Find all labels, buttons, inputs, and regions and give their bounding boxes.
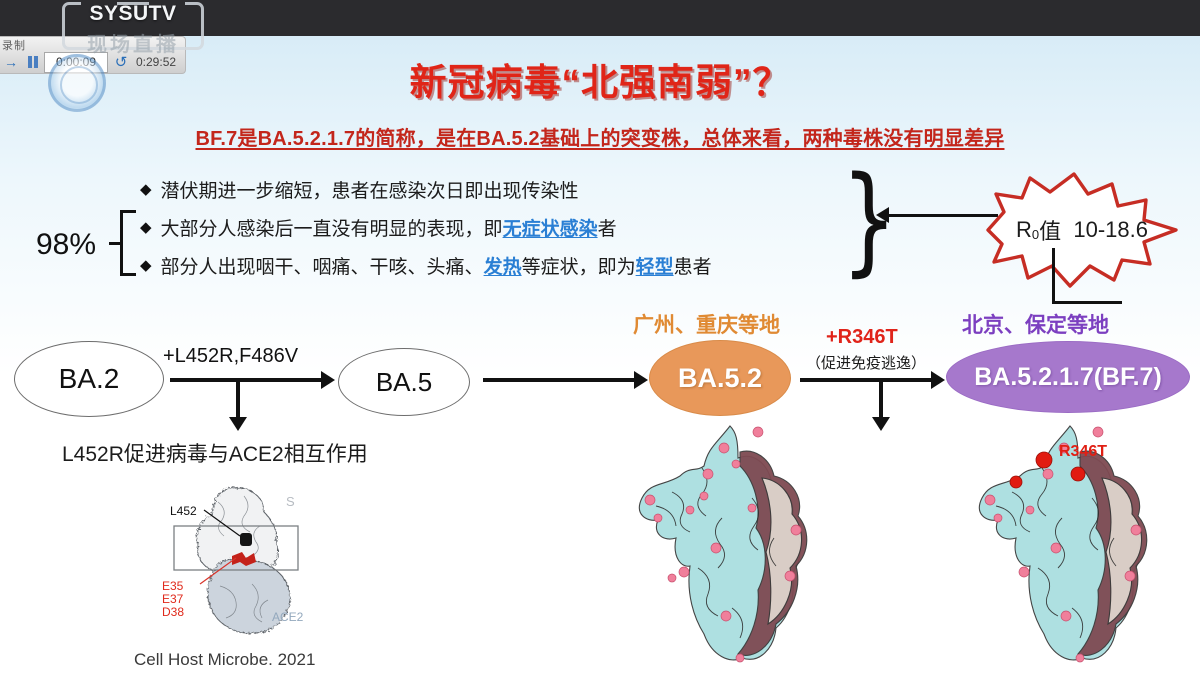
list-item: ◆ 部分人出现咽干、咽痛、干咳、头痛、 发热 等症状，即为 轻型 患者 [140, 246, 900, 284]
figure-label-spike: S [286, 494, 295, 509]
figure-label-l452: L452 [170, 504, 197, 518]
figure-left-citation: Cell Host Microbe. 2021 [134, 650, 315, 670]
bullet-text-1: 潜伏期进一步缩短，患者在感染次日即出现传染性 [161, 176, 579, 203]
list-item: ◆ 潜伏期进一步缩短，患者在感染次日即出现传染性 [140, 170, 900, 208]
flow-arrow-ba5-ba52-icon [483, 378, 635, 382]
r0-suffix: 值 [1039, 214, 1061, 246]
region-label-orange: 广州、重庆等地 [633, 309, 780, 339]
flow-node-ba52-label: BA.5.2 [678, 363, 762, 394]
square-bracket-icon [120, 210, 136, 276]
slide-subtitle: BF.7是BA.5.2.1.7的简称，是在BA.5.2基础上的突变株，总体来看，… [0, 122, 1200, 151]
flow-node-ba5-label: BA.5 [376, 367, 432, 398]
bullet-text-3a: 部分人出现咽干、咽痛、干咳、头痛、 [161, 252, 484, 279]
r0-prefix: R [1016, 217, 1032, 243]
connector-horizontal-line [1052, 301, 1122, 304]
bullet-text-2b: 者 [598, 214, 617, 241]
region-label-purple: 北京、保定等地 [962, 309, 1109, 339]
r0-subscript: 0 [1032, 227, 1039, 242]
bullet-list: ◆ 潜伏期进一步缩短，患者在感染次日即出现传染性 ◆ 大部分人感染后一直没有明显… [140, 170, 900, 284]
percentage-label: 98% [36, 228, 96, 262]
flow-arrow-ba52-bf7-icon [800, 378, 932, 382]
bullet-highlight-asymptomatic: 无症状感染 [503, 214, 598, 241]
flow-node-bf7-label: BA.5.2.1.7(BF.7) [974, 363, 1162, 392]
flow-arrow-down-right-icon [879, 382, 883, 418]
figure-left-structure: L452 S ACE2 E35E37D38 [160, 486, 330, 638]
flow-node-bf7: BA.5.2.1.7(BF.7) [946, 341, 1190, 413]
connector-vertical-line [1052, 248, 1055, 304]
flow-node-ba52: BA.5.2 [649, 340, 791, 416]
diamond-bullet-icon: ◆ [140, 180, 152, 198]
bullet-text-3b: 等症状，即为 [522, 252, 636, 279]
channel-logo: SYSUTV 现场直播 [62, 0, 204, 52]
figure-label-ace2: ACE2 [272, 610, 303, 624]
mutation-label-1: +L452R,F486V [163, 345, 298, 368]
r0-badge-text: R0值 10-18.6 [978, 170, 1186, 290]
figure-left-caption: L452R促进病毒与ACE2相互作用 [62, 438, 368, 468]
diamond-bullet-icon: ◆ [140, 218, 152, 236]
spike-protein-ba52-image [612, 418, 844, 670]
r0-value: 10-18.6 [1073, 217, 1148, 243]
channel-name: SYSUTV [62, 2, 204, 26]
flow-node-ba2-label: BA.2 [59, 363, 120, 395]
flow-node-ba5: BA.5 [338, 348, 470, 416]
page-title: 新冠病毒“北强南弱”？ [0, 52, 1200, 106]
slide-stage: 录制 → 0:00:09 ↺ 0:29:52 SYSUTV 现场直播 新冠病毒“… [0, 0, 1200, 687]
list-item: ◆ 大部分人感染后一直没有明显的表现，即 无症状感染 者 [140, 208, 900, 246]
figure-label-residues: E35E37D38 [162, 580, 184, 619]
r0-starburst-badge: R0值 10-18.6 [978, 170, 1186, 290]
bullet-text-3c: 患者 [674, 252, 712, 279]
flow-arrow-ba2-ba5-icon [170, 378, 322, 382]
diamond-bullet-icon: ◆ [140, 256, 152, 274]
flow-arrow-down-left-icon [236, 382, 240, 418]
bullet-text-2a: 大部分人感染后一直没有明显的表现，即 [161, 214, 503, 241]
flow-node-ba2: BA.2 [14, 341, 164, 417]
mutation-label-2: +R346T [826, 326, 898, 349]
bullet-highlight-fever: 发热 [484, 252, 522, 279]
bullet-highlight-mild: 轻型 [636, 252, 674, 279]
figure-right-label-r346t: R346T [1059, 443, 1107, 461]
curly-brace-icon: } [841, 168, 871, 280]
mutation-note-2: （促进免疫逃逸） [806, 352, 926, 373]
